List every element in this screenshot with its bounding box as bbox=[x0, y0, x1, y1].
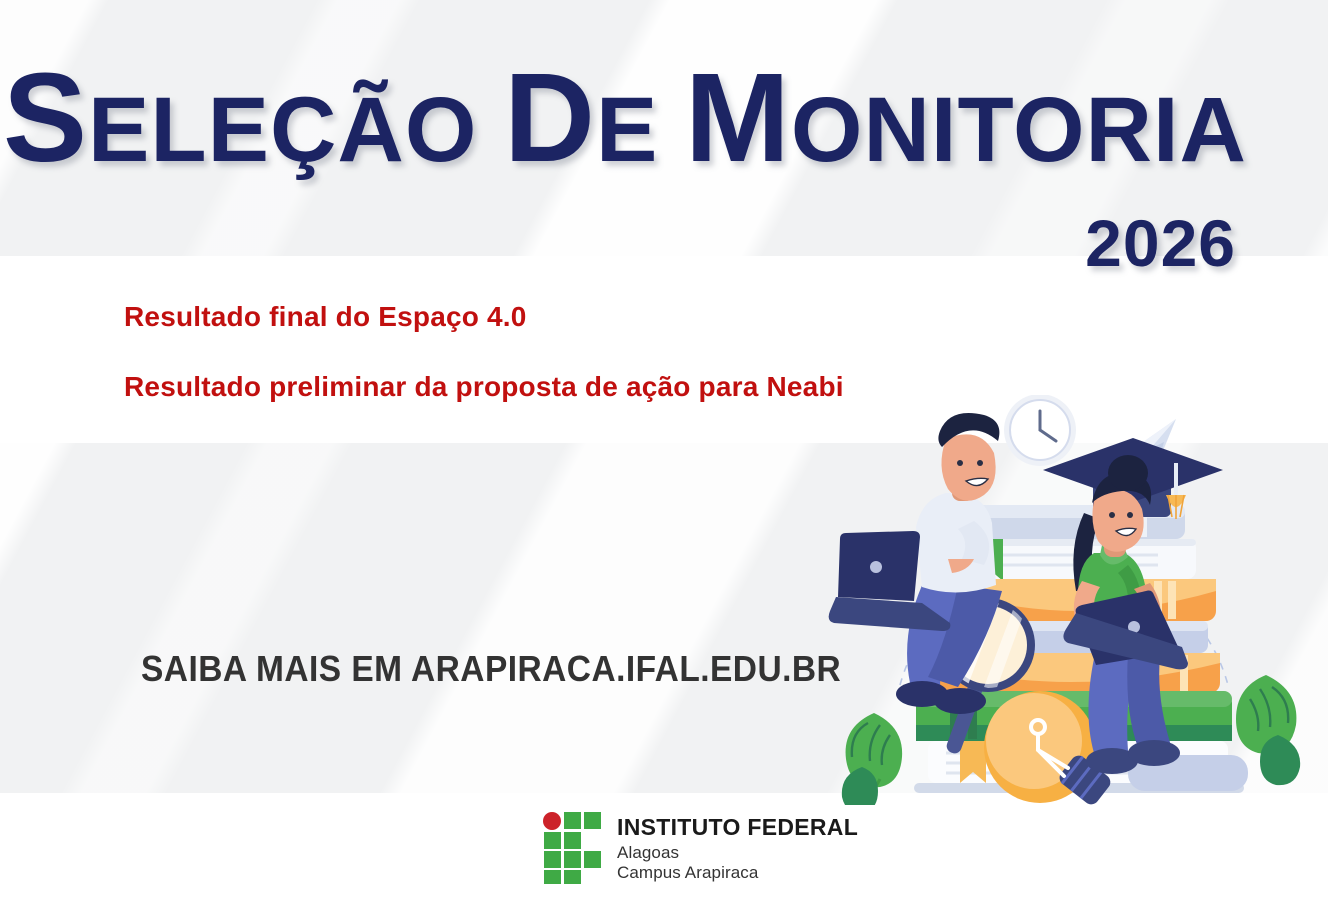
title-letter-s: S bbox=[3, 47, 88, 188]
title-word-monitoria: ONITORIA bbox=[791, 79, 1247, 181]
title-space-1 bbox=[477, 79, 504, 181]
instituto-federal-logo-mark bbox=[543, 812, 603, 884]
title-letter-m: M bbox=[685, 47, 791, 188]
subtitle-line-2: Resultado preliminar da proposta de ação… bbox=[124, 371, 844, 403]
logo-state-name: Alagoas bbox=[617, 844, 858, 861]
logo-campus-name: Campus Arapiraca bbox=[617, 864, 858, 881]
students-illustration bbox=[828, 395, 1318, 805]
poster-title: SELEÇÃO DE MONITORIA bbox=[0, 58, 1250, 179]
title-space-2 bbox=[658, 79, 685, 181]
logo-red-circle bbox=[543, 812, 561, 830]
wall-clock-icon bbox=[1004, 395, 1076, 466]
title-letter-d: D bbox=[504, 47, 596, 188]
title-word-de: E bbox=[596, 79, 658, 181]
poster-canvas: SELEÇÃO DE MONITORIA 2026 Resultado fina… bbox=[0, 0, 1328, 900]
poster-year: 2026 bbox=[1085, 205, 1236, 281]
call-to-action-text: SAIBA MAIS EM ARAPIRACA.IFAL.EDU.BR bbox=[141, 648, 841, 690]
logo-institution-name: INSTITUTO FEDERAL bbox=[617, 816, 858, 839]
subtitle-line-1: Resultado final do Espaço 4.0 bbox=[124, 301, 527, 333]
ifal-logo: INSTITUTO FEDERAL Alagoas Campus Arapira… bbox=[543, 812, 858, 884]
logo-text-block: INSTITUTO FEDERAL Alagoas Campus Arapira… bbox=[617, 816, 858, 881]
title-word-selecao: ELEÇÃO bbox=[88, 79, 477, 181]
